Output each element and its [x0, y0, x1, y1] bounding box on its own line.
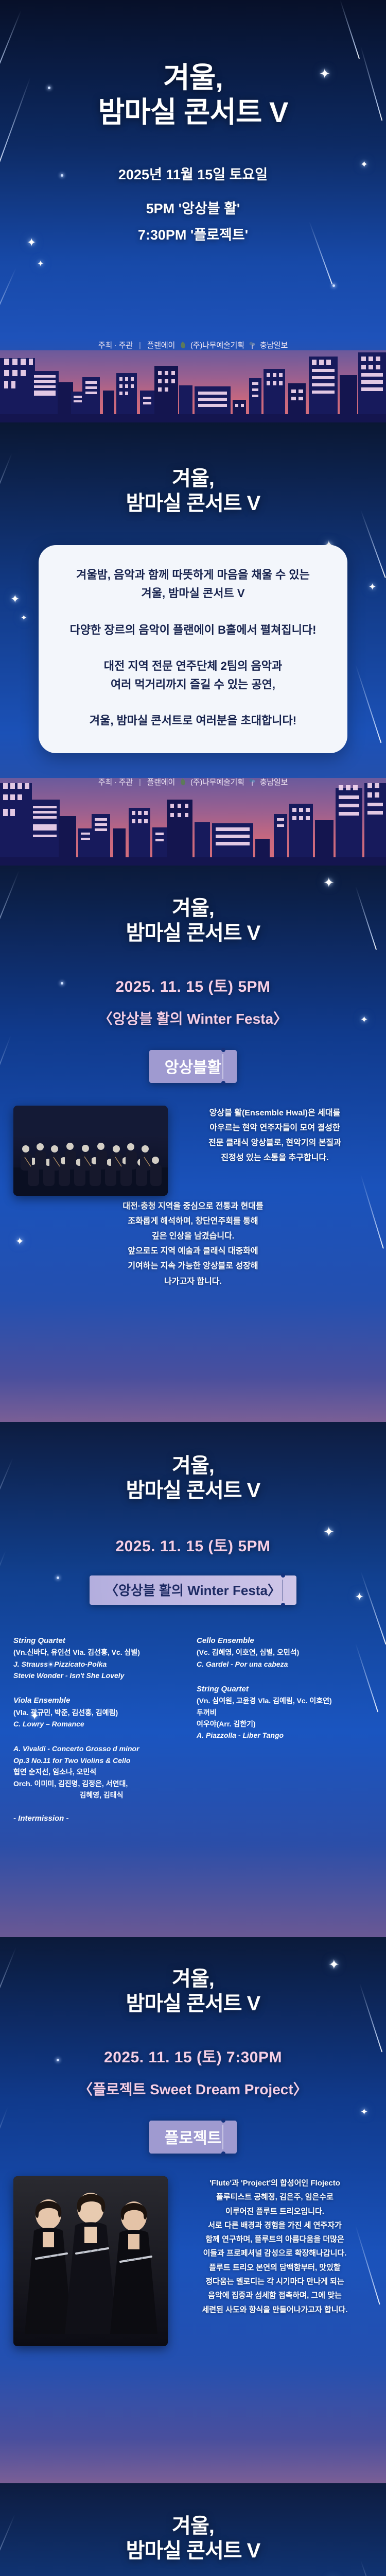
show1-bio-rest: 대전·충청 지역을 중심으로 전통과 현대를 조화롭게 해석하며, 창단연주회를…	[0, 1196, 386, 1289]
city-skyline	[0, 778, 386, 866]
hero-schedule: 2025년 11월 15일 토요일 5PM '앙상블 활' 7:30PM '플로…	[0, 162, 386, 248]
show2-bio: 'Flute'과 'Project'의 합성어인 Flojecto 플루티스트 …	[177, 2176, 373, 2317]
show1-bio: 앙상블 활(Ensemble Hwal)은 세대를 아우르는 현악 연주자들이 …	[177, 1106, 373, 1165]
skyline-buildings	[0, 350, 386, 422]
hero-date: 2025년 11월 15일 토요일	[0, 162, 386, 188]
show1-bio-l2: 전문 클래식 앙상블로, 현악기의 본질과	[177, 1136, 373, 1150]
credits-org-2: (주)나무예술기획	[190, 778, 244, 787]
intro-title-line1: 겨울,	[0, 467, 386, 491]
show2-bio-l3: 서로 다른 배경과 경험을 가진 세 연주자가	[177, 2218, 373, 2232]
orchestra-photo-image	[13, 1106, 168, 1196]
program-piece: 김혜영, 김태식	[13, 1789, 189, 1801]
program-piece: 협연 순지선, 임소나, 오민석	[13, 1766, 189, 1777]
program-piece: A. Piazzolla - Liber Tango	[197, 1730, 373, 1741]
program-piece: C. Lowry – Romance	[13, 1718, 189, 1730]
show1-badge: 앙상블활	[149, 1050, 237, 1083]
show2-bio-l6: 플루트 트리오 본연의 담백함부터, 맛있할	[177, 2261, 373, 2275]
program-group: String Quartet (Vn.신바다, 유인선 Vla. 김선홍, Vc…	[13, 1635, 189, 1681]
intro-p3-line2: 여러 먹거리까지 즐길 수 있는 공연,	[54, 675, 332, 694]
program-group-title: String Quartet	[197, 1683, 373, 1695]
show2-badge: 플로젝트	[149, 2121, 237, 2154]
show1-bio-l7: 앞으로도 지역 예술과 클래식 대중화에	[13, 1244, 373, 1259]
show1-bio-l6: 깊은 인상을 남겼습니다.	[13, 1229, 373, 1244]
show1-title: 겨울, 밤마실 콘서트 V	[0, 866, 386, 946]
leaf-icon	[179, 778, 186, 786]
program1-badge: 〈앙상블 활의 Winter Festa〉	[90, 1575, 296, 1605]
city-skyline	[0, 350, 386, 422]
program1-badge-wrap: 〈앙상블 활의 Winter Festa〉	[0, 1575, 386, 1605]
poster-title: 겨울, 밤마실 콘서트 V	[0, 0, 386, 130]
show1-bio-l3: 진정성 있는 소통을 추구합니다.	[177, 1150, 373, 1165]
show2-bio-l0: 'Flute'과 'Project'의 합성어인 Flojecto	[177, 2176, 373, 2190]
intro-card: 겨울밤, 음악과 함께 따뜻하게 마음을 채울 수 있는 겨울, 밤마실 콘서트…	[39, 545, 347, 753]
show1-badge-label: 앙상블활	[165, 1059, 221, 1076]
show2-datetime: 2025. 11. 15 (토) 7:30PM	[0, 2044, 386, 2067]
program1-intermission: - Intermission -	[13, 1814, 189, 1823]
tree-icon	[249, 778, 256, 786]
meteor-icon	[0, 268, 16, 344]
program1-title-line1: 겨울,	[0, 1454, 386, 1478]
show1-bio-l4: 대전·충청 지역을 중심으로 전통과 현대를	[13, 1199, 373, 1214]
show2-badge-wrap: 플로젝트	[0, 2121, 386, 2154]
program-group-title: A. Vivaldi - Concerto Grosso d minor	[13, 1743, 189, 1754]
program1-section: ✦ ✦ ✦ 겨울, 밤마실 콘서트 V 2025. 11. 15 (토) 5PM…	[0, 1422, 386, 1937]
show2-bio-l4: 함께 연구하며, 플루트의 아름다움을 더많은	[177, 2232, 373, 2246]
credits-separator: |	[139, 778, 141, 787]
credits-org-1: 플랜에이	[147, 341, 175, 350]
show1-section: ✦ ✦ ✦ 겨울, 밤마실 콘서트 V 2025. 11. 15 (토) 5PM…	[0, 866, 386, 1422]
show1-title-line1: 겨울,	[0, 896, 386, 921]
intro-p1-line2: 겨울, 밤마실 콘서트 V	[54, 584, 332, 603]
skyline-ground	[0, 857, 386, 866]
show2-bio-l8: 음악에 집중과 섬세함 접촉하며, 그에 맞는	[177, 2289, 373, 2302]
show2-badge-label: 플로젝트	[165, 2130, 221, 2147]
intro-title-line2: 밤마실 콘서트 V	[0, 491, 386, 516]
show2-bio-l1: 플루티스트 공혜정, 김은주, 임은수로	[177, 2190, 373, 2204]
credits-separator: |	[139, 341, 141, 350]
program-group-players: (Vn. 심여원, 고윤경 Vla. 김예림, Vc. 이호연)	[197, 1695, 373, 1706]
credits-label: 주최 · 주관	[98, 778, 133, 787]
credits-line: 주최 · 주관 | 플랜에이 (주)나무예술기획 충남일보	[0, 340, 386, 350]
hero-show1: 5PM '앙상블 활'	[0, 196, 386, 222]
program-group-players: (Vc. 김혜영, 이호연, 심별, 오민석)	[197, 1647, 373, 1658]
show2-bio-l9: 세련된 사도와 항식을 만들어나가고자 합니다.	[177, 2303, 373, 2317]
program1-title: 겨울, 밤마실 콘서트 V	[0, 1422, 386, 1503]
program2-title: 겨울, 밤마실 콘서트 V	[0, 2483, 386, 2564]
show2-section: ✦ ✦ ✦ 겨울, 밤마실 콘서트 V 2025. 11. 15 (토) 7:3…	[0, 1937, 386, 2483]
program-piece: Orch. 이미미, 김진명, 김정은, 서연대,	[13, 1778, 189, 1789]
ticket-perforation-icon	[282, 1580, 283, 1601]
credits-org-3: 충남일보	[260, 341, 288, 350]
program-piece: J. Strauss - Pizzicato-Polka	[13, 1658, 189, 1670]
program-group-title: Cello Ensemble	[197, 1635, 373, 1647]
hero-section: ✦ ✦ ✦ ✦ 겨울, 밤마실 콘서트 V 2025년 11월 15일 토요일 …	[0, 0, 386, 422]
program-group-players: (Vla. 곽규민, 박준, 김선홍, 김예림)	[13, 1707, 189, 1718]
program-piece: Stevie Wonder - Isn't She Lovely	[13, 1670, 189, 1681]
show2-profile: 'Flute'과 'Project'의 합성어인 Flojecto 플루티스트 …	[0, 2154, 386, 2346]
intro-p4: 겨울, 밤마실 콘서트로 여러분을 초대합니다!	[54, 711, 332, 730]
program-piece: 여우야(Arr. 김한기)	[197, 1718, 373, 1730]
program-group-players: Op.3 No.11 for Two Violins & Cello	[13, 1755, 189, 1766]
show1-bio-l1: 아우르는 현악 연주자들이 모여 결성한	[177, 1121, 373, 1136]
show1-subtitle: 〈앙상블 활의 Winter Festa〉	[0, 1008, 386, 1028]
hero-show2: 7:30PM '플로젝트'	[0, 222, 386, 248]
program-group-title: Viola Ensemble	[13, 1694, 189, 1706]
sparkle-icon: ✦	[37, 260, 44, 268]
ticket-perforation-icon	[222, 1054, 223, 1079]
credits-label: 주최 · 주관	[98, 341, 133, 350]
intro-section: ✦ ✦ ✦ ✦ 겨울, 밤마실 콘서트 V 겨울밤, 음악과 함께 따뜻하게 마…	[0, 422, 386, 866]
show1-title-line2: 밤마실 콘서트 V	[0, 921, 386, 946]
program1-list: String Quartet (Vn.신바다, 유인선 Vla. 김선홍, Vc…	[0, 1635, 386, 1823]
skyline-ground	[0, 414, 386, 422]
tree-icon	[249, 341, 256, 349]
program2-title-line1: 겨울,	[0, 2514, 386, 2538]
program1-left-column: String Quartet (Vn.신바다, 유인선 Vla. 김선홍, Vc…	[13, 1635, 189, 1823]
credits-org-2: (주)나무예술기획	[190, 341, 244, 350]
orchestra-photo	[13, 1106, 168, 1196]
skyline-buildings	[0, 778, 386, 866]
hero-content: 겨울, 밤마실 콘서트 V 2025년 11월 15일 토요일 5PM '앙상블…	[0, 0, 386, 248]
program-group: Viola Ensemble (Vla. 곽규민, 박준, 김선홍, 김예림) …	[13, 1694, 189, 1730]
intro-p3-line1: 대전 지역 전문 연주단체 2팀의 음악과	[54, 657, 332, 675]
show2-subtitle: 〈플로젝트 Sweet Dream Project〉	[0, 2078, 386, 2099]
program-piece: 두꺼비	[197, 1707, 373, 1718]
show2-title-line1: 겨울,	[0, 1967, 386, 1991]
program-group: A. Vivaldi - Concerto Grosso d minor Op.…	[13, 1743, 189, 1801]
program1-right-column: Cello Ensemble (Vc. 김혜영, 이호연, 심별, 오민석) C…	[197, 1635, 373, 1823]
show2-title-line2: 밤마실 콘서트 V	[0, 1991, 386, 2016]
intro-title: 겨울, 밤마실 콘서트 V	[0, 422, 386, 516]
flute-trio-photo	[13, 2176, 168, 2346]
intro-p1-line1: 겨울밤, 음악과 함께 따뜻하게 마음을 채울 수 있는	[54, 566, 332, 584]
show1-bio-l9: 나가고자 합니다.	[13, 1274, 373, 1289]
program-group-players: (Vn.신바다, 유인선 Vla. 김선홍, Vc. 심별)	[13, 1647, 189, 1658]
poster-title-line2: 밤마실 콘서트 V	[0, 95, 386, 130]
show2-bio-l7: 정다움는 멜로디는 각 시기마다 만나게 되는	[177, 2275, 373, 2289]
show2-bio-l2: 이루어진 플루트 트리오입니다.	[177, 2205, 373, 2218]
credits-org-1: 플랜에이	[147, 778, 175, 787]
show2-content: 겨울, 밤마실 콘서트 V 2025. 11. 15 (토) 7:30PM 〈플…	[0, 1937, 386, 2346]
intro-p2: 다양한 장르의 음악이 플랜에이 B홀에서 펼쳐집니다!	[54, 621, 332, 639]
show1-bio-l5: 조화롭게 해석하며, 창단연주회를 통해	[13, 1214, 373, 1229]
credits-line: 주최 · 주관 | 플랜에이 (주)나무예술기획 충남일보	[0, 776, 386, 787]
program2-content: 겨울, 밤마실 콘서트 V 2025. 11. 15 (토) 7:30PM 〈플…	[0, 2483, 386, 2576]
intro-content: 겨울, 밤마실 콘서트 V 겨울밤, 음악과 함께 따뜻하게 마음을 채울 수 …	[0, 422, 386, 753]
leaf-icon	[179, 341, 186, 349]
program1-badge-label: 〈앙상블 활의 Winter Festa〉	[105, 1583, 281, 1598]
program-group-title: String Quartet	[13, 1635, 189, 1647]
flute-trio-photo-image	[13, 2176, 168, 2346]
show1-bio-l0: 앙상블 활(Ensemble Hwal)은 세대를	[177, 1106, 373, 1121]
show1-badge-wrap: 앙상블활	[0, 1050, 386, 1083]
program2-section: ✦ ✦ ✦ 겨울, 밤마실 콘서트 V 2025. 11. 15 (토) 7:3…	[0, 2483, 386, 2576]
program-group: Cello Ensemble (Vc. 김혜영, 이호연, 심별, 오민석) C…	[197, 1635, 373, 1670]
program-group: String Quartet (Vn. 심여원, 고윤경 Vla. 김예림, V…	[197, 1683, 373, 1741]
program1-content: 겨울, 밤마실 콘서트 V 2025. 11. 15 (토) 5PM 〈앙상블 …	[0, 1422, 386, 1823]
ticket-perforation-icon	[222, 2125, 223, 2149]
poster-title-line1: 겨울,	[0, 61, 386, 95]
credits-org-3: 충남일보	[260, 778, 288, 787]
poster-root: ✦ ✦ ✦ ✦ 겨울, 밤마실 콘서트 V 2025년 11월 15일 토요일 …	[0, 0, 386, 2576]
show1-datetime: 2025. 11. 15 (토) 5PM	[0, 974, 386, 996]
show1-bio-l8: 기여하는 지속 가능한 앙상블로 성장해	[13, 1259, 373, 1274]
show2-title: 겨울, 밤마실 콘서트 V	[0, 1937, 386, 2016]
program2-title-line2: 밤마실 콘서트 V	[0, 2538, 386, 2564]
meteor-head-icon	[332, 284, 335, 287]
program1-title-line2: 밤마실 콘서트 V	[0, 1478, 386, 1503]
show1-profile: 앙상블 활(Ensemble Hwal)은 세대를 아우르는 현악 연주자들이 …	[0, 1083, 386, 1196]
program1-datetime: 2025. 11. 15 (토) 5PM	[0, 1533, 386, 1556]
program-piece: C. Gardel - Por una cabeza	[197, 1658, 373, 1670]
show2-bio-l5: 이들과 프로페셔널 감성으로 확장해나갑니다.	[177, 2246, 373, 2260]
show1-content: 겨울, 밤마실 콘서트 V 2025. 11. 15 (토) 5PM 〈앙상블 …	[0, 866, 386, 1289]
